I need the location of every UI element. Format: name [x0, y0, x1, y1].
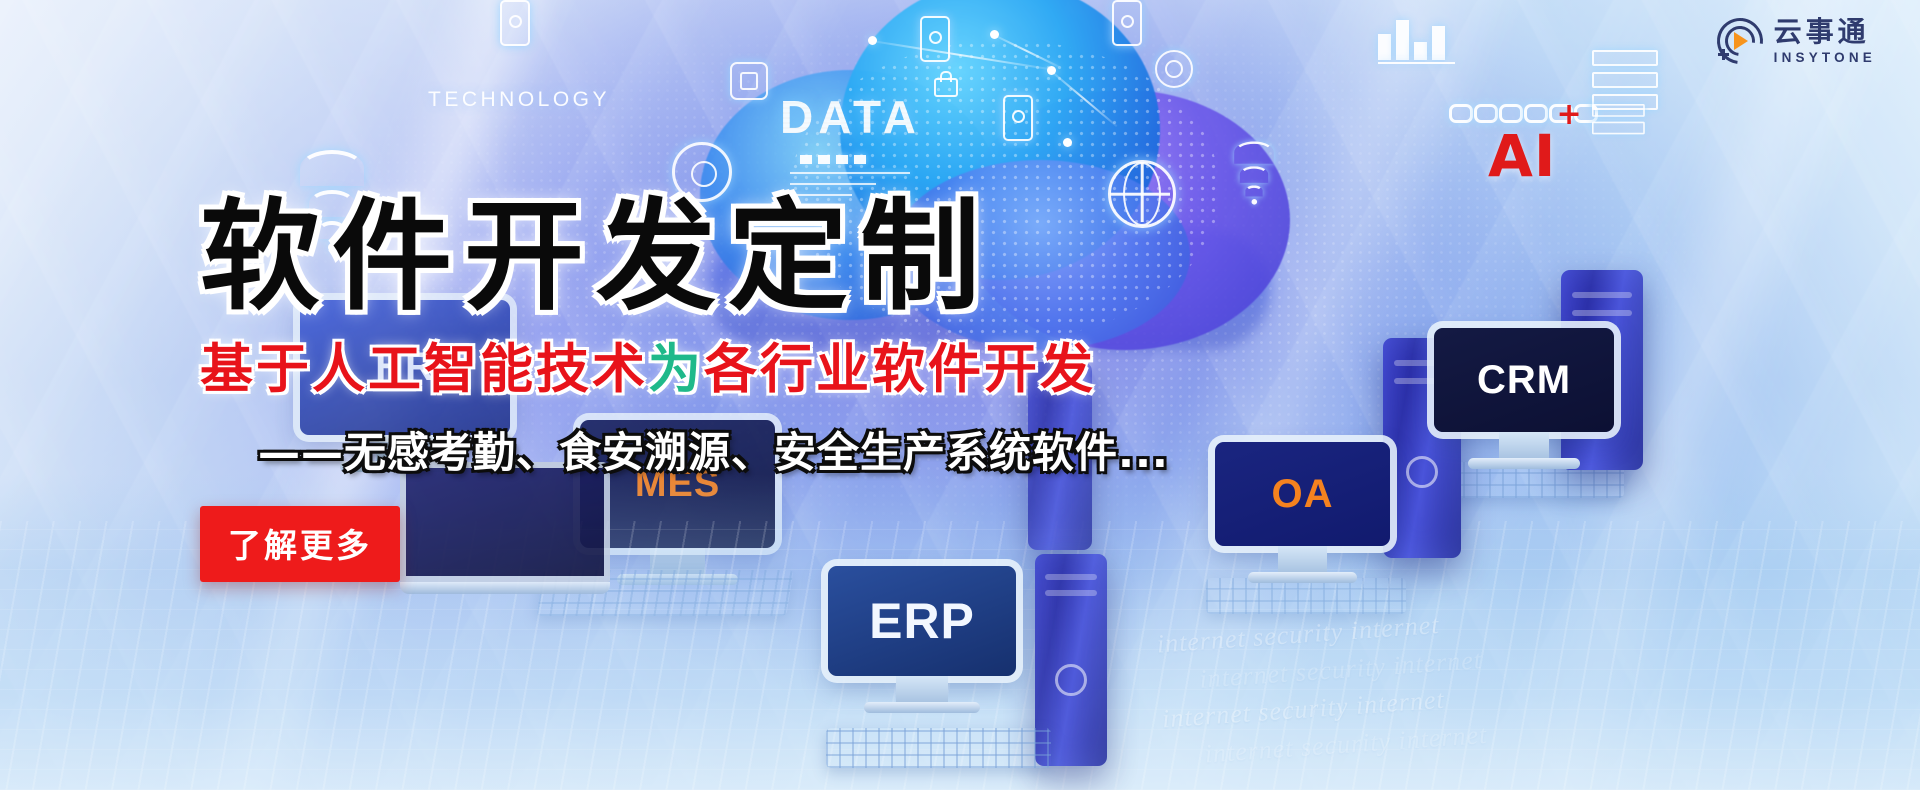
- hero-subtitle-part1: 基于人工智能技术: [200, 339, 648, 400]
- phone-icon: [1003, 95, 1033, 141]
- bar-chart-icon: [1378, 8, 1445, 60]
- device-monitor-crm: CRM: [1434, 328, 1614, 469]
- hero-subtitle-accent: 为: [648, 339, 704, 400]
- data-indicator-dots: [800, 155, 866, 164]
- monitor-screen-label: CRM: [1434, 328, 1614, 432]
- device-monitor-erp: ERP: [828, 566, 1016, 713]
- square-chip-icon: [730, 62, 768, 100]
- hero-subtitle-part2: 各行业软件开发: [704, 339, 1096, 400]
- bar-chart-baseline: [1378, 62, 1455, 64]
- server-stack-icon: [1592, 104, 1645, 139]
- brand-name-cn: 云事通: [1774, 18, 1876, 46]
- network-node-icon: [1155, 50, 1193, 88]
- ai-label-text: AI: [1488, 122, 1556, 190]
- data-label: DATA: [780, 90, 921, 144]
- hero-copy: 软件开发定制 基于人工智能技术为各行业软件开发 ——无感考勤、食安溯源、安全生产…: [200, 196, 1300, 582]
- circular-play-logo-icon: [1717, 18, 1763, 64]
- brand-logo[interactable]: 云事通 INSYTONE: [1717, 18, 1876, 65]
- brand-name-en: INSYTONE: [1774, 51, 1876, 65]
- lock-icon: [934, 78, 958, 97]
- ai-plus-superscript: +: [1556, 97, 1582, 132]
- hero-tertiary-text: ——无感考勤、食安溯源、安全生产系统软件...: [258, 419, 1300, 480]
- keyboard: [826, 728, 1051, 768]
- brand-logo-text: 云事通 INSYTONE: [1774, 18, 1876, 65]
- page-title: 软件开发定制: [200, 196, 1300, 321]
- monitor-screen-label: ERP: [828, 566, 1016, 676]
- hero-subtitle: 基于人工智能技术为各行业软件开发: [200, 327, 1300, 403]
- phone-icon: [1112, 0, 1142, 46]
- hero-banner: DATA TECHNOLOGY HR: [0, 0, 1920, 790]
- ai-plus-label: AI+: [1488, 122, 1583, 190]
- phone-icon: [500, 0, 530, 46]
- technology-label: TECHNOLOGY: [428, 88, 610, 112]
- network-node: [1063, 138, 1072, 147]
- phone-icon: [920, 16, 950, 62]
- learn-more-button[interactable]: 了解更多: [200, 506, 400, 582]
